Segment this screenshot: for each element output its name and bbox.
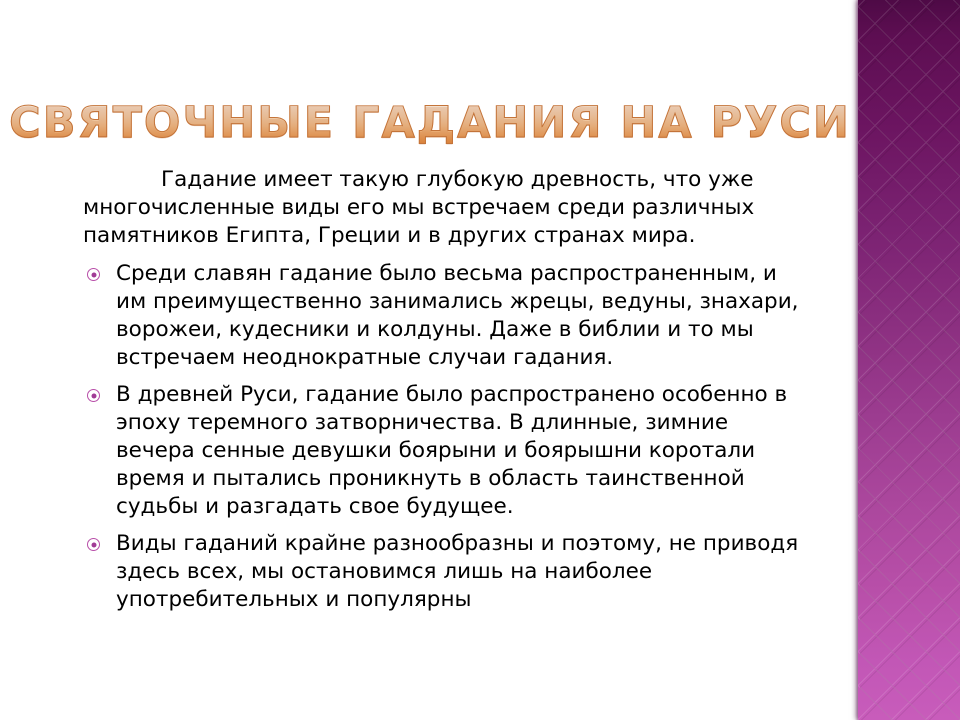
ring-dot-bullet-icon [87,389,100,402]
paragraph-text: Гадание имеет такую глубокую древность, … [83,167,754,248]
paragraph-intro: Гадание имеет такую глубокую древность, … [83,166,807,250]
diamond-lattice-shadow-pattern [860,2,960,720]
bullet-list-item: Виды гаданий крайне разнообразны и поэто… [83,530,807,614]
bullet-list-item: В древней Руси, гадание было распростран… [83,381,807,521]
side-band-edge-shadow [855,0,858,720]
ring-dot-bullet-icon [87,268,100,281]
presentation-slide: Святочные гадания на Руси Гадание имеет … [0,0,960,720]
slide-title: Святочные гадания на Руси [9,102,851,145]
bullet-list-item: Среди славян гадание было весьма распрос… [83,260,807,372]
paragraph-text: Виды гаданий крайне разнообразны и поэто… [116,531,798,612]
paragraph-text: Среди славян гадание было весьма распрос… [116,261,799,370]
paragraph-text: В древней Руси, гадание было распростран… [116,382,787,519]
ring-dot-bullet-icon [87,538,100,551]
slide-body: Гадание имеет такую глубокую древность, … [83,166,807,623]
slide-title-container: Святочные гадания на Руси [30,92,830,154]
decorative-side-band [858,0,960,720]
